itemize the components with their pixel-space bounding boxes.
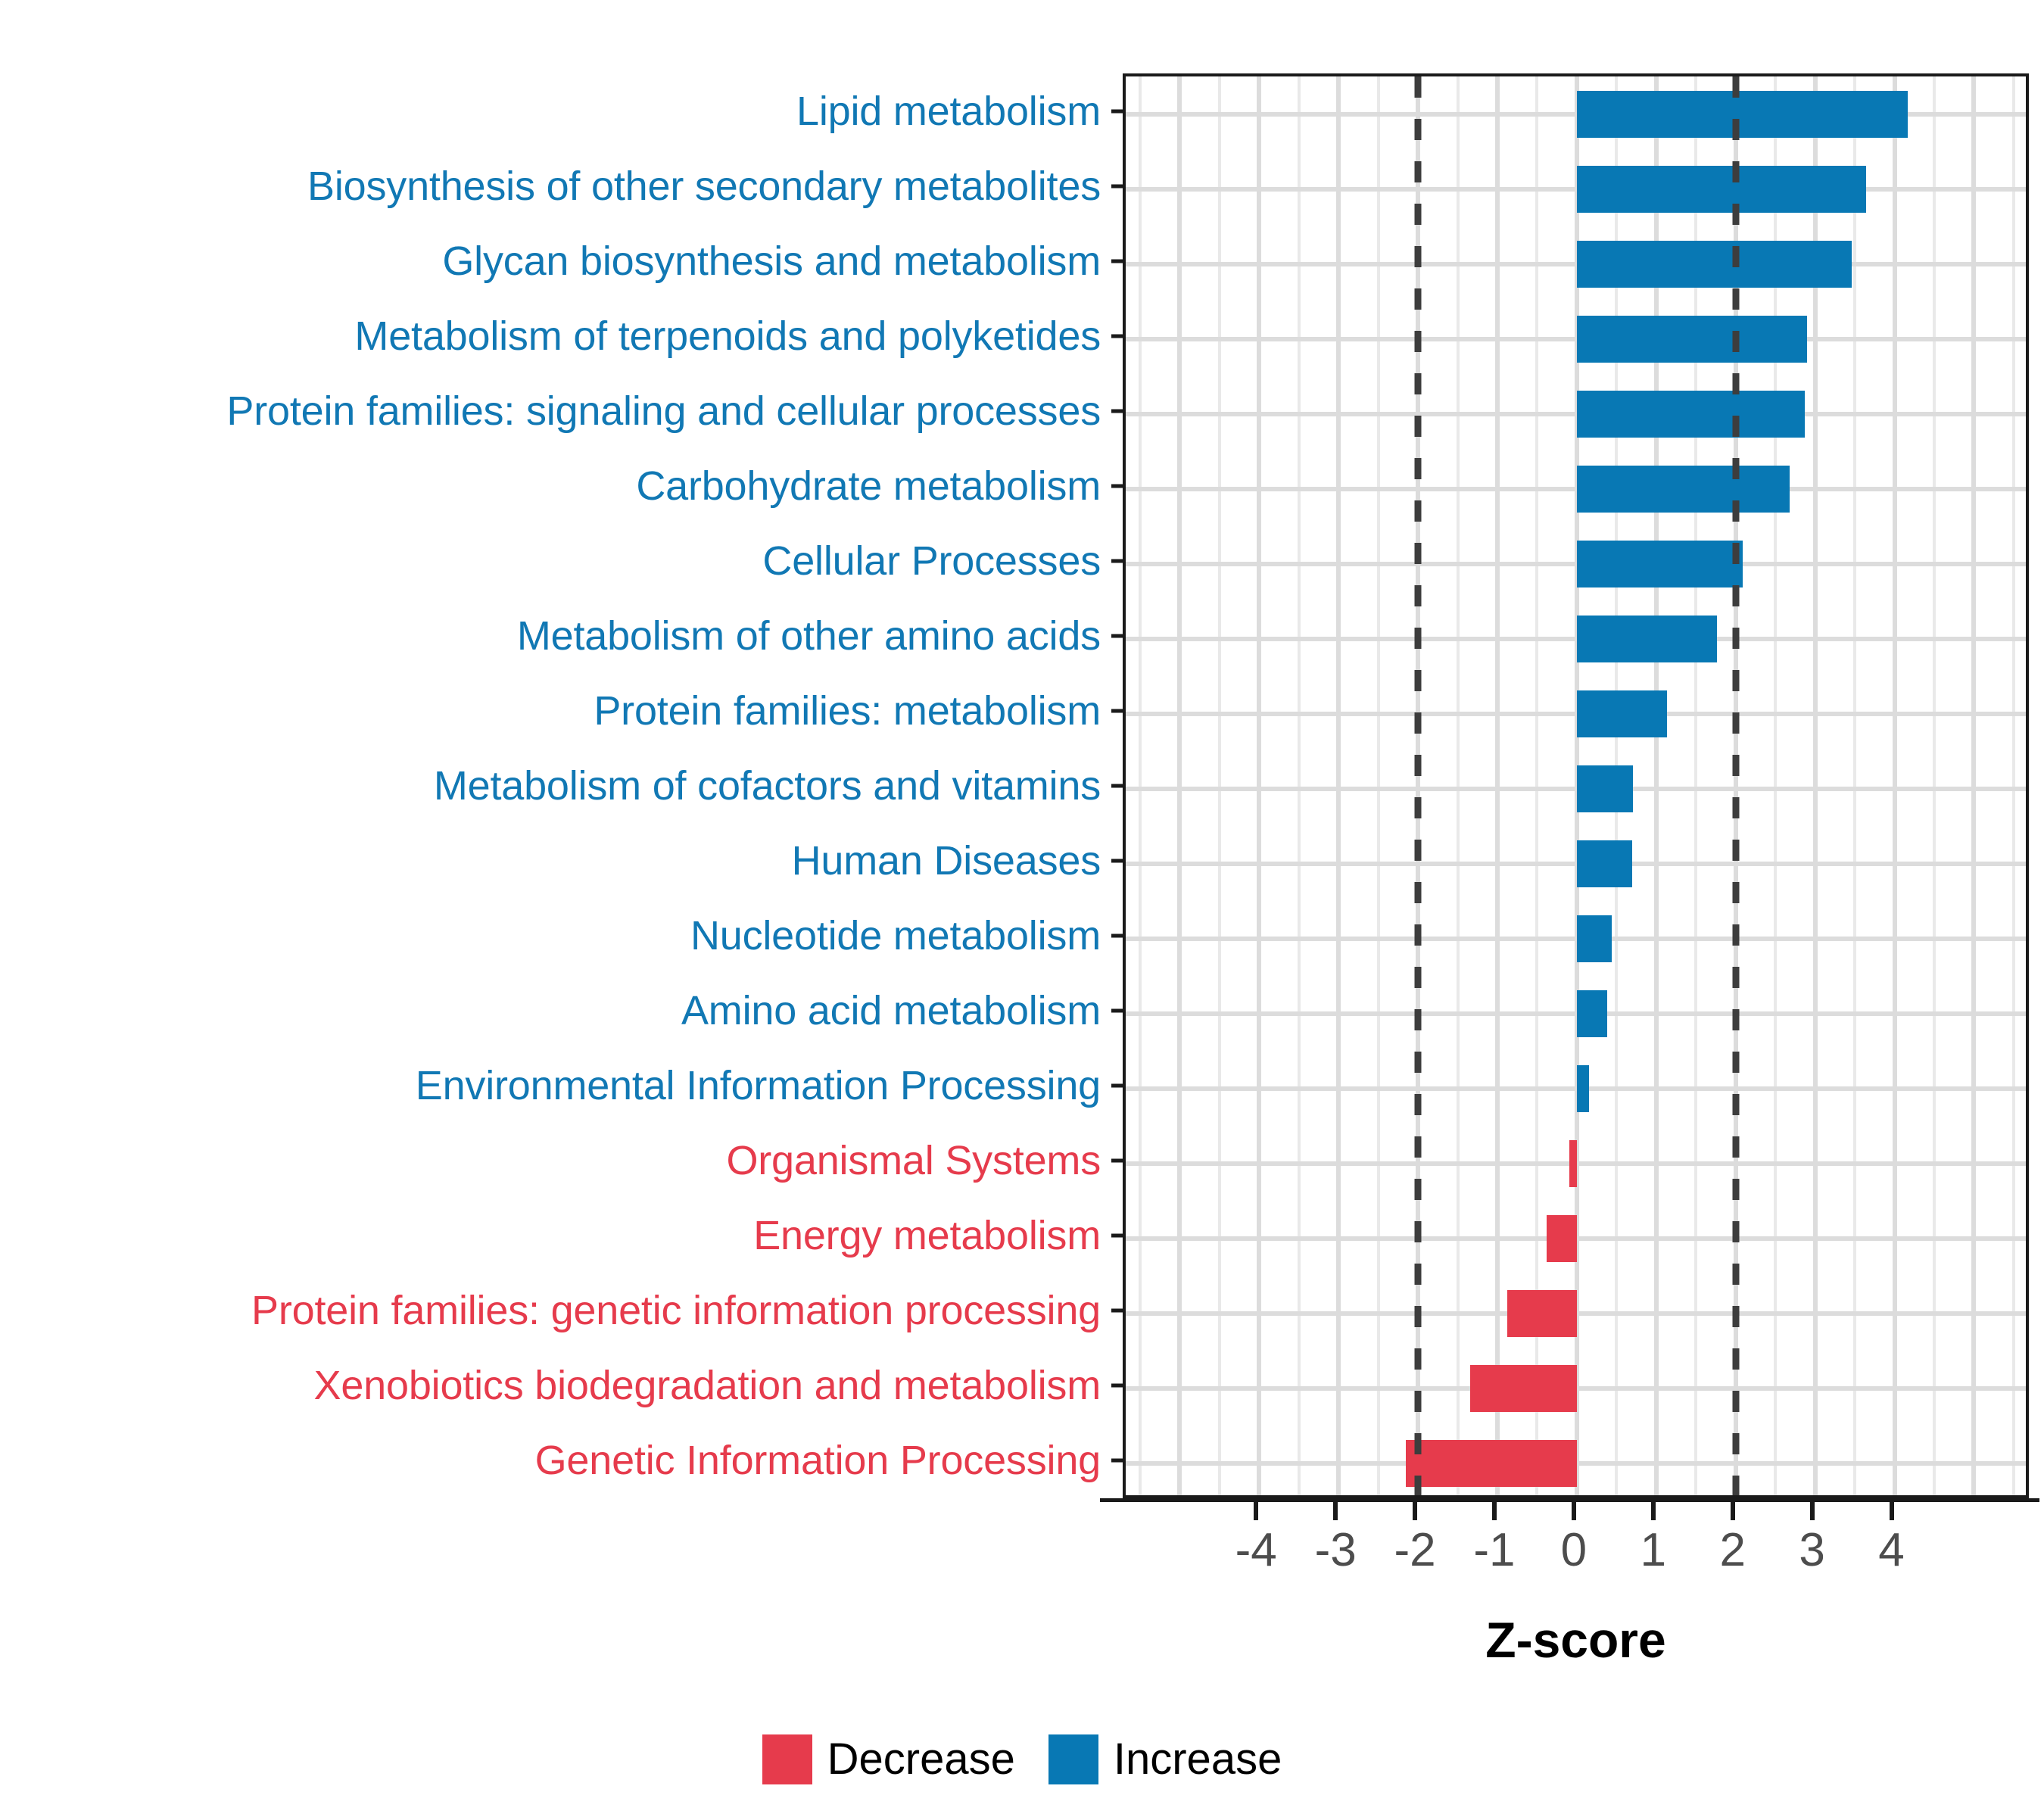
y-axis-tick-mark: [1111, 334, 1123, 338]
bar: [1577, 1065, 1589, 1112]
y-axis-tick-mark: [1111, 1459, 1123, 1463]
vertical-gridline-minor: [1218, 76, 1221, 1495]
vertical-gridline-major: [1495, 76, 1500, 1495]
y-axis-category-row: Glycan biosynthesis and metabolism: [0, 223, 1111, 298]
y-axis-tick-row: [1111, 1198, 1123, 1273]
y-axis-tick-row: [1111, 1423, 1123, 1498]
x-axis-title: Z-score: [1123, 1611, 2029, 1669]
y-axis-tick-mark: [1111, 1309, 1123, 1313]
bar: [1470, 1365, 1577, 1412]
y-axis-category-row: Protein families: signaling and cellular…: [0, 373, 1111, 448]
reference-line: [1732, 76, 1739, 1495]
y-axis-tick-mark: [1111, 1159, 1123, 1163]
y-axis-tick-row: [1111, 148, 1123, 223]
legend-item[interactable]: Decrease: [762, 1734, 1015, 1784]
x-axis-tick-mark: [1333, 1502, 1338, 1520]
y-axis-tick-mark: [1111, 784, 1123, 787]
vertical-gridline-minor: [1457, 76, 1460, 1495]
bar: [1577, 990, 1607, 1037]
x-axis-tick-mark: [1492, 1502, 1497, 1520]
x-axis-tick-label: 0: [1561, 1523, 1587, 1577]
y-axis-category-row: Human Diseases: [0, 823, 1111, 898]
legend-label: Increase: [1114, 1734, 1282, 1784]
vertical-gridline-minor: [1535, 76, 1538, 1495]
y-axis-tick-row: [1111, 223, 1123, 298]
y-axis-category-row: Xenobiotics biodegradation and metabolis…: [0, 1348, 1111, 1423]
horizontal-gridline: [1126, 1086, 2026, 1091]
y-axis-category-label: Xenobiotics biodegradation and metabolis…: [314, 1365, 1101, 1406]
bar: [1577, 616, 1717, 662]
y-axis-tick-row: [1111, 298, 1123, 373]
x-axis-tick-mark: [1731, 1502, 1735, 1520]
y-axis-category-label: Carbohydrate metabolism: [636, 466, 1101, 506]
y-axis-category-row: Metabolism of other amino acids: [0, 598, 1111, 673]
y-axis-category-row: Cellular Processes: [0, 523, 1111, 598]
y-axis-category-label: Energy metabolism: [753, 1215, 1101, 1256]
y-axis-category-row: Lipid metabolism: [0, 73, 1111, 148]
y-axis-tick-mark: [1111, 109, 1123, 113]
x-axis-tick-mark: [1890, 1502, 1894, 1520]
y-axis-category-label: Environmental Information Processing: [416, 1065, 1101, 1106]
y-axis-category-row: Biosynthesis of other secondary metaboli…: [0, 148, 1111, 223]
y-axis-category-row: Genetic Information Processing: [0, 1423, 1111, 1498]
vertical-gridline-minor: [1853, 76, 1856, 1495]
y-axis-category-label: Glycan biosynthesis and metabolism: [442, 241, 1101, 282]
y-axis-tick-mark: [1111, 634, 1123, 637]
y-axis-tick-row: [1111, 523, 1123, 598]
vertical-gridline-minor: [1377, 76, 1380, 1495]
vertical-gridline-major: [1813, 76, 1818, 1495]
horizontal-gridline: [1126, 337, 2026, 341]
y-axis-tick-mark: [1111, 1009, 1123, 1013]
x-axis-tick-label: 4: [1878, 1523, 1904, 1577]
horizontal-gridline: [1126, 562, 2026, 566]
y-axis-category-row: Metabolism of cofactors and vitamins: [0, 748, 1111, 823]
reference-line: [1415, 76, 1422, 1495]
vertical-gridline-minor: [1694, 76, 1697, 1495]
y-axis-category-label: Genetic Information Processing: [535, 1440, 1101, 1481]
x-axis-tick-label: 3: [1799, 1523, 1824, 1577]
horizontal-gridline: [1126, 787, 2026, 791]
horizontal-gridline: [1126, 487, 2026, 491]
vertical-gridline-minor: [1774, 76, 1777, 1495]
chart-legend: DecreaseIncrease: [0, 1734, 2044, 1784]
vertical-gridline-major: [1893, 76, 1897, 1495]
bar: [1406, 1440, 1577, 1487]
vertical-gridline-minor: [1933, 76, 1936, 1495]
horizontal-gridline: [1126, 187, 2026, 192]
y-axis-category-label: Protein families: signaling and cellular…: [226, 391, 1101, 432]
vertical-gridline-minor: [2012, 76, 2015, 1495]
bar: [1547, 1215, 1577, 1262]
bar: [1577, 915, 1612, 962]
legend-label: Decrease: [827, 1734, 1015, 1784]
x-axis-tick-mark: [1254, 1502, 1258, 1520]
y-axis-tick-mark: [1111, 184, 1123, 188]
y-axis-tick-row: [1111, 899, 1123, 974]
y-axis-tick-row: [1111, 1273, 1123, 1348]
y-axis-tick-row: [1111, 598, 1123, 673]
y-axis-tick-row: [1111, 73, 1123, 148]
bar: [1577, 91, 1908, 138]
bar: [1577, 391, 1805, 438]
y-axis-tick-mark: [1111, 1084, 1123, 1088]
x-axis-tick-label: -3: [1315, 1523, 1357, 1577]
x-axis-tick-marks: [1123, 1502, 2029, 1520]
y-axis-tick-mark: [1111, 709, 1123, 712]
x-axis-tick-label: -2: [1394, 1523, 1435, 1577]
y-axis-tick-column: [1111, 73, 1123, 1498]
y-axis-category-label: Protein families: metabolism: [594, 690, 1101, 731]
bar: [1577, 840, 1632, 887]
y-axis-category-label: Organismal Systems: [726, 1140, 1101, 1181]
y-axis-tick-mark: [1111, 484, 1123, 488]
y-axis-category-row: Protein families: genetic information pr…: [0, 1273, 1111, 1348]
x-axis-tick-labels: -4-3-2-101234: [1123, 1523, 2029, 1584]
bar: [1577, 765, 1633, 812]
y-axis-tick-mark: [1111, 259, 1123, 263]
y-axis-tick-row: [1111, 823, 1123, 898]
vertical-gridline-major: [1257, 76, 1261, 1495]
y-axis-category-label: Cellular Processes: [762, 541, 1101, 581]
y-axis-tick-mark: [1111, 859, 1123, 862]
chart-canvas: Lipid metabolismBiosynthesis of other se…: [0, 0, 2044, 1817]
y-axis-category-row: Protein families: metabolism: [0, 673, 1111, 748]
y-axis-tick-mark: [1111, 1384, 1123, 1388]
y-axis-tick-mark: [1111, 559, 1123, 563]
y-axis-label-column: Lipid metabolismBiosynthesis of other se…: [0, 73, 1111, 1498]
horizontal-gridline: [1126, 1011, 2026, 1016]
y-axis-category-label: Metabolism of other amino acids: [517, 616, 1101, 656]
y-axis-tick-row: [1111, 1124, 1123, 1198]
horizontal-gridline: [1126, 637, 2026, 641]
y-axis-category-row: Amino acid metabolism: [0, 974, 1111, 1049]
y-axis-category-row: Nucleotide metabolism: [0, 899, 1111, 974]
y-axis-tick-row: [1111, 448, 1123, 523]
vertical-gridline-major: [1654, 76, 1659, 1495]
x-axis-tick-mark: [1651, 1502, 1656, 1520]
y-axis-category-label: Human Diseases: [792, 840, 1101, 881]
y-axis-category-label: Nucleotide metabolism: [690, 915, 1101, 956]
vertical-gridline-minor: [1298, 76, 1301, 1495]
horizontal-gridline: [1126, 262, 2026, 266]
bar: [1577, 690, 1668, 737]
x-axis-tick-label: 2: [1719, 1523, 1745, 1577]
y-axis-category-row: Carbohydrate metabolism: [0, 448, 1111, 523]
x-axis-tick-label: -1: [1473, 1523, 1515, 1577]
bar: [1507, 1290, 1577, 1337]
x-axis-tick-mark: [1413, 1502, 1417, 1520]
y-axis-category-label: Metabolism of terpenoids and polyketides: [354, 316, 1101, 357]
horizontal-gridline: [1126, 712, 2026, 716]
bar: [1577, 241, 1852, 288]
bar: [1577, 166, 1866, 213]
legend-swatch-increase: [1048, 1734, 1098, 1784]
y-axis-category-row: Environmental Information Processing: [0, 1049, 1111, 1124]
horizontal-gridline: [1126, 862, 2026, 866]
legend-swatch-decrease: [762, 1734, 812, 1784]
x-axis-tick-mark: [1572, 1502, 1576, 1520]
y-axis-tick-row: [1111, 1348, 1123, 1423]
bar: [1569, 1140, 1576, 1187]
y-axis-tick-row: [1111, 373, 1123, 448]
y-axis-tick-mark: [1111, 934, 1123, 938]
vertical-gridline-major: [1336, 76, 1341, 1495]
bar: [1577, 541, 1743, 587]
y-axis-tick-row: [1111, 974, 1123, 1049]
x-axis-tick-label: 1: [1640, 1523, 1666, 1577]
legend-item[interactable]: Increase: [1048, 1734, 1282, 1784]
x-axis-tick-label: -4: [1235, 1523, 1277, 1577]
y-axis-tick-mark: [1111, 409, 1123, 413]
y-axis-tick-row: [1111, 748, 1123, 823]
y-axis-tick-row: [1111, 673, 1123, 748]
vertical-gridline-major: [1177, 76, 1182, 1495]
y-axis-tick-row: [1111, 1049, 1123, 1124]
y-axis-category-row: Metabolism of terpenoids and polyketides: [0, 298, 1111, 373]
vertical-gridline-major: [1971, 76, 1976, 1495]
y-axis-category-label: Metabolism of cofactors and vitamins: [434, 765, 1101, 806]
y-axis-category-row: Energy metabolism: [0, 1198, 1111, 1273]
y-axis-category-row: Organismal Systems: [0, 1124, 1111, 1198]
bar: [1577, 466, 1790, 513]
horizontal-gridline: [1126, 937, 2026, 941]
x-axis-tick-mark: [1810, 1502, 1815, 1520]
plot-panel: [1123, 73, 2029, 1498]
vertical-gridline-minor: [1139, 76, 1142, 1495]
bar: [1577, 316, 1807, 363]
y-axis-category-label: Lipid metabolism: [796, 91, 1101, 132]
horizontal-gridline: [1126, 412, 2026, 416]
y-axis-category-label: Amino acid metabolism: [681, 990, 1101, 1031]
y-axis-category-label: Biosynthesis of other secondary metaboli…: [307, 166, 1101, 207]
y-axis-tick-mark: [1111, 1234, 1123, 1238]
y-axis-category-label: Protein families: genetic information pr…: [251, 1290, 1101, 1331]
